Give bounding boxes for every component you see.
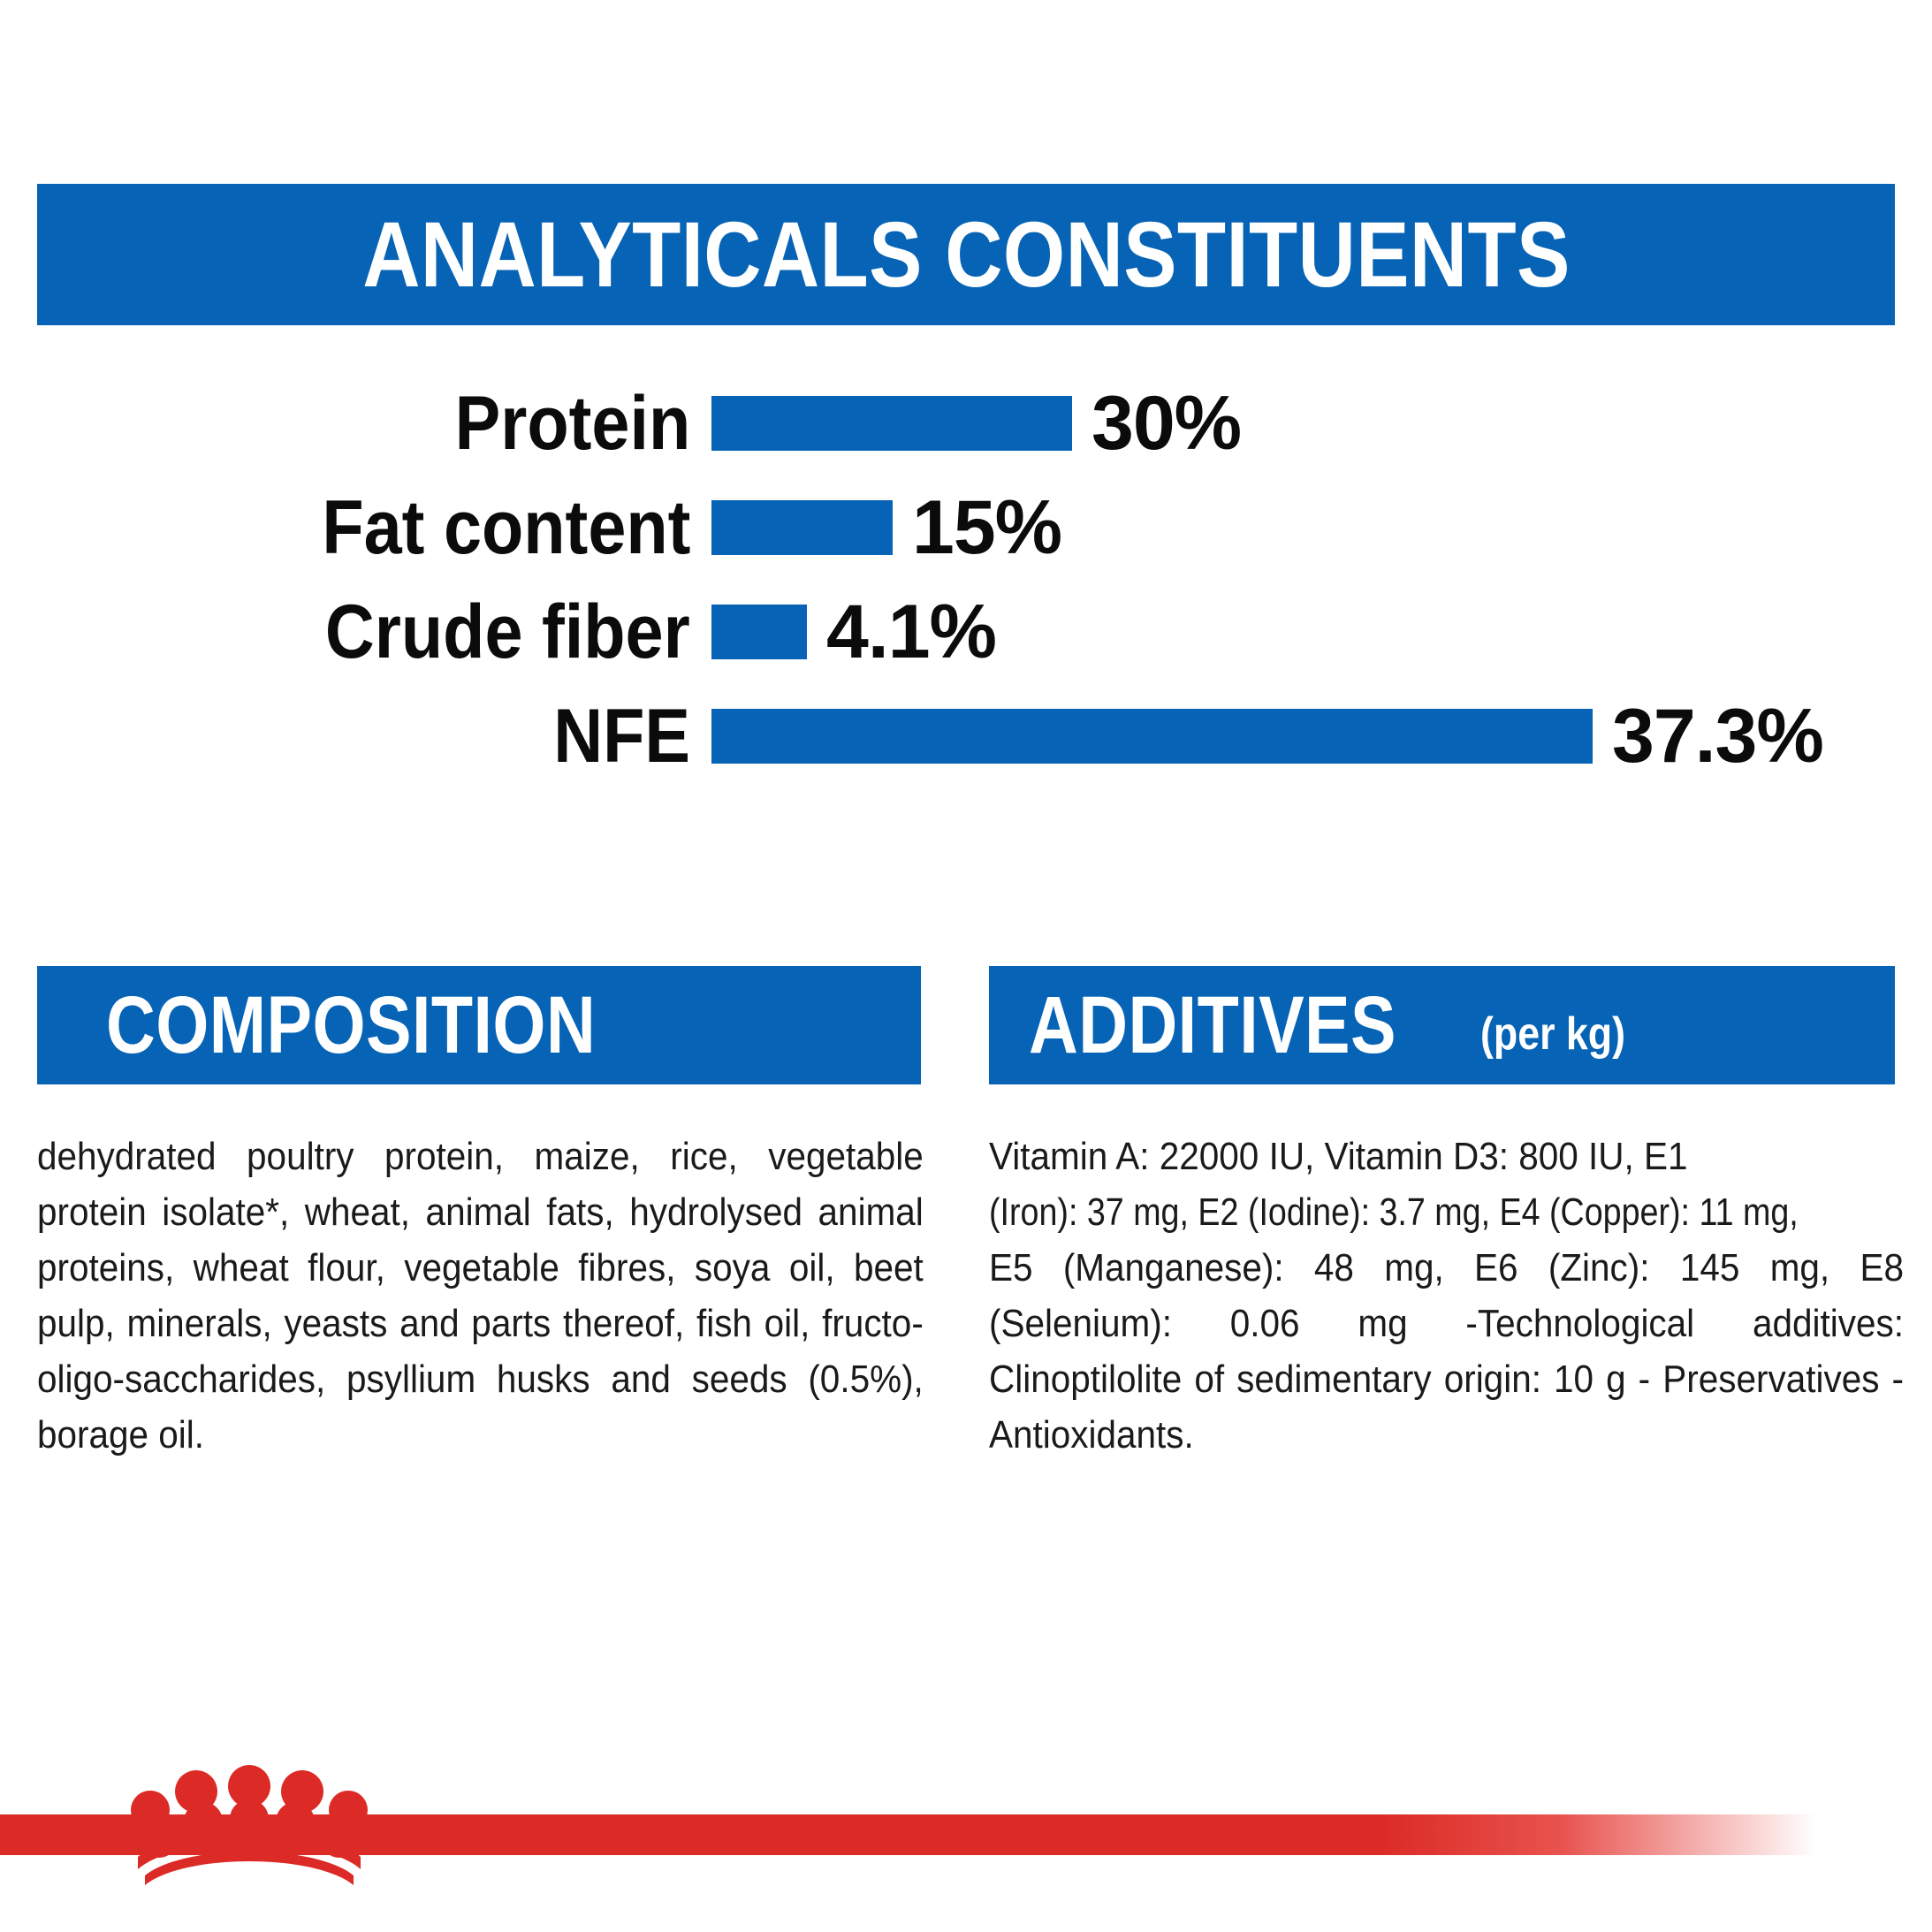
bar-value: 15% (912, 490, 1061, 566)
bar-value: 4.1% (826, 594, 996, 670)
bar-fill (711, 605, 807, 659)
bar-row: Crude fiber 4.1% (0, 580, 1932, 684)
additives-per-kg-label: (per kg) (1480, 1008, 1625, 1061)
bar-track: 30% (711, 385, 1241, 461)
bar-value: 37.3% (1612, 698, 1823, 774)
composition-header: COMPOSITION (37, 966, 921, 1084)
additives-line-2: (Iron): 37 mg, E2 (Iodine): 3.7 mg, E4 (… (989, 1184, 1840, 1240)
bar-fill (711, 500, 893, 555)
composition-title: COMPOSITION (106, 985, 596, 1066)
bar-track: 15% (711, 490, 1061, 566)
bar-row: NFE 37.3% (0, 684, 1932, 788)
analyticals-title: ANALYTICALS CONSTITUENTS (362, 209, 1571, 301)
composition-body-text: dehydrated poultry protein, maize, rice,… (37, 1129, 924, 1463)
bar-fill (711, 709, 1593, 764)
bar-label: Fat content (322, 490, 690, 566)
nutrition-panel: ANALYTICALS CONSTITUENTS Protein 30% Fat… (0, 0, 1932, 1932)
bar-fill (711, 396, 1072, 451)
additives-body-text: Vitamin A: 22000 IU, Vitamin D3: 800 IU,… (989, 1129, 1904, 1463)
bar-row: Fat content 15% (0, 475, 1932, 580)
bar-value: 30% (1092, 385, 1241, 461)
analyticals-bar-chart: Protein 30% Fat content 15% Crude fiber … (0, 371, 1932, 848)
bar-track: 37.3% (711, 698, 1823, 774)
bar-track: 4.1% (711, 594, 996, 670)
royal-canin-crown-icon (108, 1764, 391, 1897)
bar-label: Protein (454, 385, 690, 461)
additives-line-1: Vitamin A: 22000 IU, Vitamin D3: 800 IU,… (989, 1135, 1688, 1178)
bar-label: NFE (553, 698, 690, 774)
analyticals-constituents-header: ANALYTICALS CONSTITUENTS (37, 184, 1895, 325)
additives-header: ADDITIVES (per kg) (989, 966, 1895, 1084)
additives-line-3: E5 (Manganese): 48 mg, E6 (Zinc): 145 mg… (989, 1246, 1904, 1457)
bar-label: Crude fiber (325, 594, 690, 670)
bar-row: Protein 30% (0, 371, 1932, 475)
additives-title: ADDITIVES (1029, 985, 1396, 1066)
